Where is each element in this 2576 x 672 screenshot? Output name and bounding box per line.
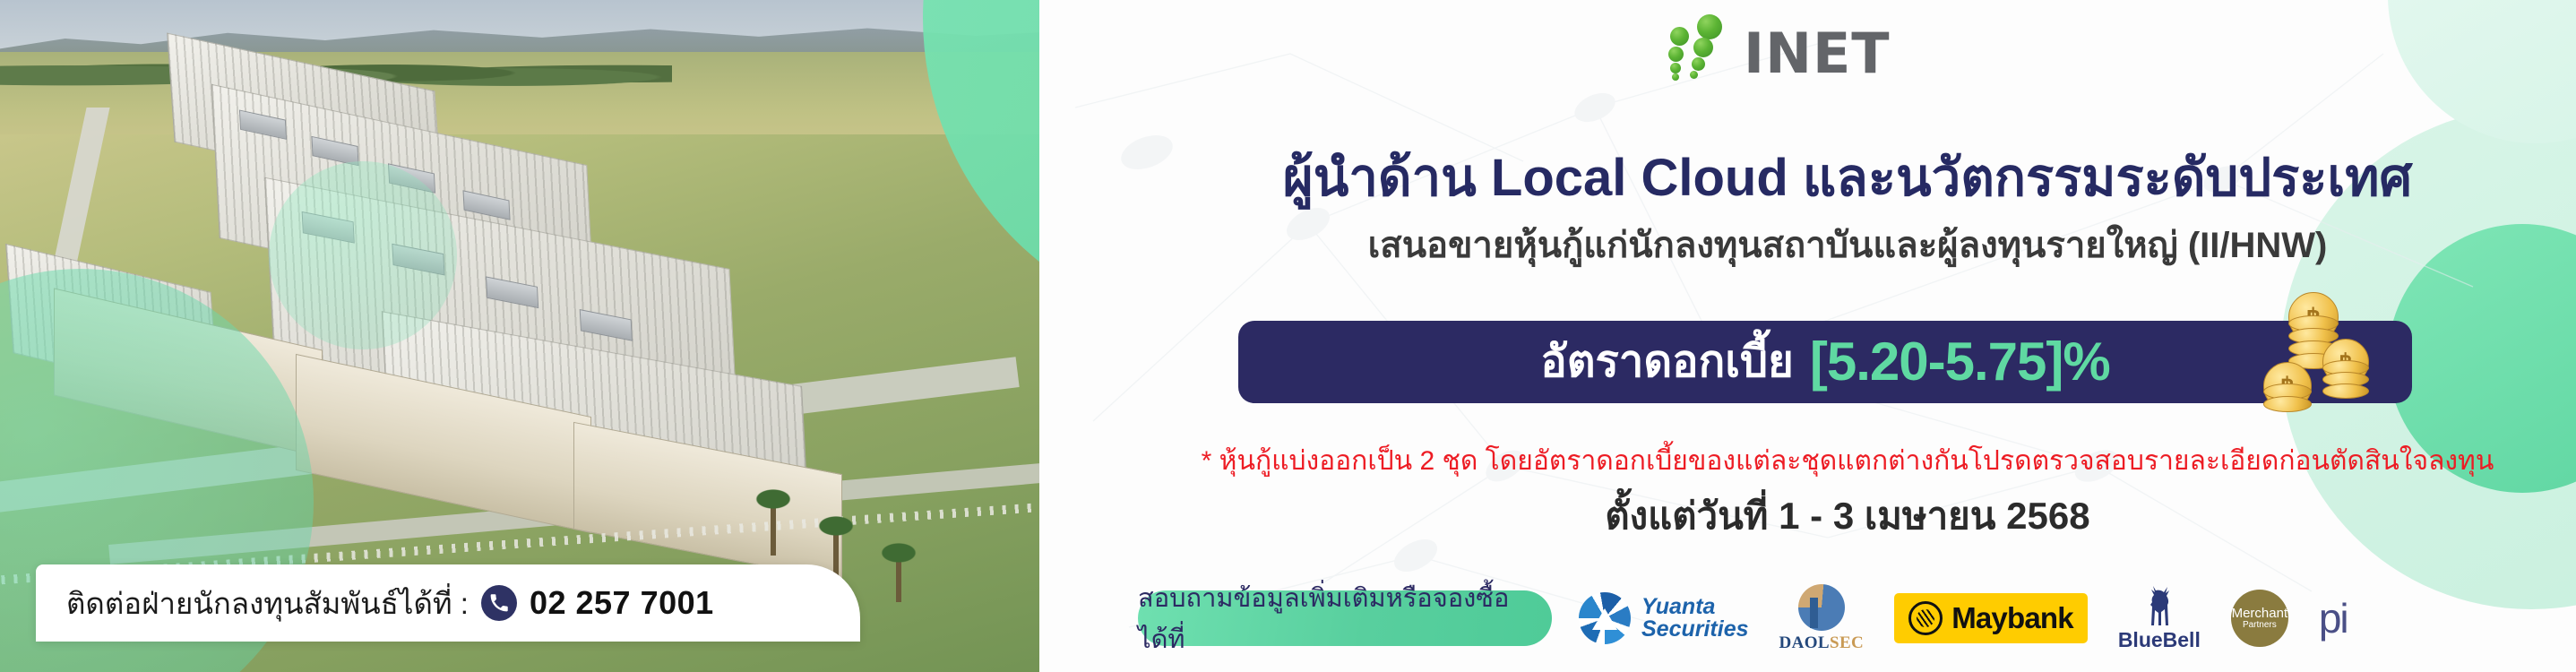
interest-rate-badge: อัตราดอกเบี้ย [5.20-5.75]% ฿ ฿ ฿ [1238,321,2412,403]
merchant-line-2: Partners [2243,621,2277,630]
investor-relations-contact-card: ติดต่อฝ่ายนักลงทุนสัมพันธ์ได้ที่ : 02 25… [36,564,860,642]
inet-logo-wordmark: INET [1744,28,1891,79]
broker-logos: Yuanta Securities DAOLSEC Maybank [1579,584,2348,653]
photo-palm-tree [771,502,776,556]
gold-coin-stack-icon: ฿ ฿ ฿ [2258,292,2373,426]
contact-phone-number[interactable]: 02 257 7001 [530,584,714,622]
bluebell-deer-icon [2140,585,2179,626]
merchant-line-1: Merchant [2232,607,2288,620]
broker-logo-maybank[interactable]: Maybank [1894,593,2088,643]
daol-wordmark: DAOLSEC [1779,633,1865,653]
daol-label-main: DAOL [1779,633,1831,652]
inet-bond-offering-banner: ติดต่อฝ่ายนักลงทุนสัมพันธ์ได้ที่ : 02 25… [0,0,2576,672]
bluebell-wordmark: BlueBell [2118,628,2201,652]
interest-rate-label: อัตราดอกเบี้ย [1540,340,1794,384]
contact-label: ติดต่อฝ่ายนักลงทุนสัมพันธ์ได้ที่ : [66,580,469,627]
offer-disclaimer: * หุ้นกู้แบ่งออกเป็น 2 ชุด โดยอัตราดอกเบ… [1113,448,2576,475]
broker-logo-daol-sec[interactable]: DAOLSEC [1779,584,1865,653]
broker-logo-bluebell[interactable]: BlueBell [2118,585,2201,652]
inet-bubbles-logo-icon [1658,13,1740,79]
page-title: ผู้นำด้าน Local Cloud และนวัตกรรมระดับปร… [1149,152,2546,204]
phone-icon [481,585,517,621]
offer-date-range: ตั้งแต่วันที่ 1 - 3 เมษายน 2568 [1149,497,2546,535]
inet-logo: INET [1658,13,1891,79]
daol-pie-icon [1798,584,1845,631]
maybank-wordmark: Maybank [1951,601,2073,635]
data-center-photo: ติดต่อฝ่ายนักลงทุนสัมพันธ์ได้ที่ : 02 25… [0,0,1084,672]
yuanta-star-icon [1579,592,1631,644]
offer-content-panel: INET ผู้นำด้าน Local Cloud และนวัตกรรมระ… [1039,0,2576,672]
broker-row: สอบถามข้อมูลเพิ่มเติมหรือจองซื้อได้ที่ Y… [1138,582,2554,654]
maybank-tiger-icon [1908,601,1943,635]
cta-inquiry-button[interactable]: สอบถามข้อมูลเพิ่มเติมหรือจองซื้อได้ที่ [1138,590,1552,646]
yuanta-line-1: Yuanta [1641,596,1749,618]
pi-wordmark-icon: pi [2319,598,2348,639]
broker-logo-pi[interactable]: pi [2319,598,2348,639]
yuanta-line-2: Securities [1641,618,1749,641]
broker-logo-yuanta-securities[interactable]: Yuanta Securities [1579,592,1749,644]
yuanta-wordmark: Yuanta Securities [1641,596,1749,641]
broker-logo-merchant-partners[interactable]: Merchant Partners [2231,590,2288,647]
photo-palm-tree [896,556,901,602]
daol-label-accent: SEC [1830,633,1864,652]
page-subtitle: เสนอขายหุ้นกู้แก่นักลงทุนสถาบันและผู้ลงท… [1149,228,2546,263]
interest-rate-value: [5.20-5.75]% [1810,335,2110,389]
photo-green-circle-overlay [269,161,457,349]
